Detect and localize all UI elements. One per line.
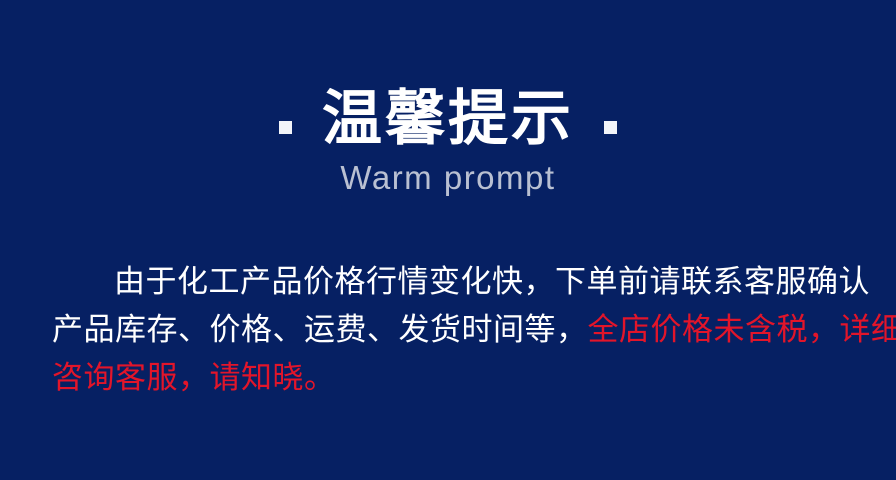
notice-line-3-segment-1-highlight: 咨询客服，请知晓。 — [52, 360, 336, 395]
notice-line-2-segment-1: 产品库存、价格、运费、发货时间等， — [52, 312, 588, 347]
notice-body: 由于化工产品价格行情变化快，下单前请联系客服确认 产品库存、价格、运费、发货时间… — [52, 258, 852, 402]
notice-line-3: 咨询客服，请知晓。 — [52, 354, 852, 402]
square-marker-icon-right — [604, 121, 617, 134]
notice-line-1-segment-1: 由于化工产品价格行情变化快，下单前请联系客服确认 — [114, 264, 870, 299]
warm-prompt-banner: 温馨提示 Warm prompt 由于化工产品价格行情变化快，下单前请联系客服确… — [0, 0, 896, 480]
page-subtitle: Warm prompt — [0, 158, 896, 198]
notice-line-1: 由于化工产品价格行情变化快，下单前请联系客服确认 — [52, 258, 852, 306]
notice-line-2: 产品库存、价格、运费、发货时间等，全店价格未含税，详细 — [52, 306, 852, 354]
square-marker-icon-left — [279, 121, 292, 134]
notice-line-2-segment-2-highlight: 全店价格未含税，详细 — [588, 312, 896, 347]
page-title: 温馨提示 — [322, 82, 574, 156]
banner-header: 温馨提示 Warm prompt — [0, 82, 896, 198]
title-row: 温馨提示 — [0, 82, 896, 156]
